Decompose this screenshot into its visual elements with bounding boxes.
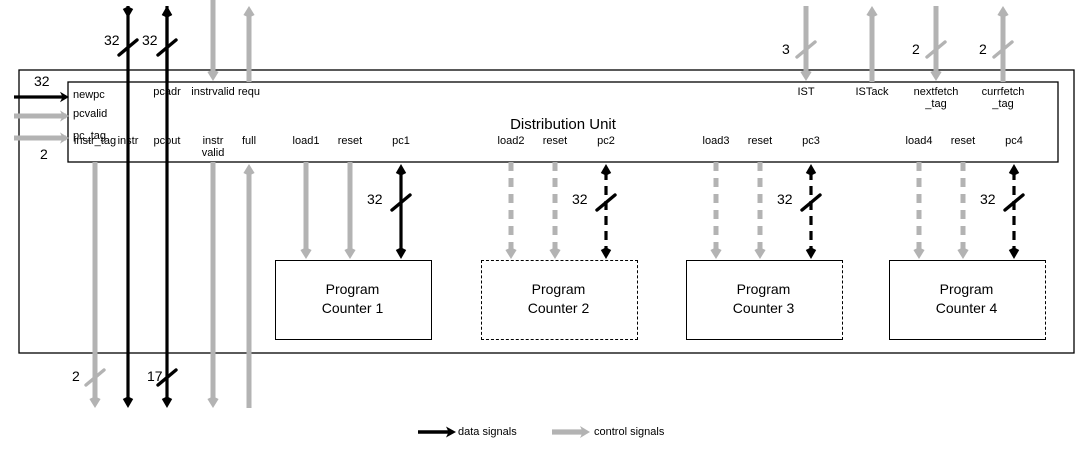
arrowhead-pc3-load3 — [710, 247, 721, 259]
width-label-IST: 3 — [782, 41, 790, 57]
port-label-pc4-pc4: pc4 — [1005, 136, 1023, 148]
arrowhead-pc2-load2 — [505, 247, 516, 259]
width-label-pc3-pc3: 32 — [777, 191, 793, 207]
arrowhead-pc2-pc2-up — [601, 164, 611, 176]
width-label-pcout: 17 — [147, 368, 163, 384]
counter-label-pc4: ProgramCounter 4 — [936, 280, 997, 318]
arrowhead-IST — [800, 69, 811, 81]
arrowhead-pcadr-top — [162, 6, 172, 18]
port-label-pc2-reset: reset — [543, 136, 567, 148]
port-label-ISTack: ISTack — [855, 87, 888, 99]
port-label-requ: requ — [238, 87, 260, 99]
port-label-newpc: newpc — [73, 90, 105, 102]
port-label-instr_tag: instr_tag — [74, 136, 116, 148]
arrowhead-ISTack — [866, 6, 877, 18]
arrowhead-pc3-reset — [754, 247, 765, 259]
arrowhead-pc3-pc3-down — [806, 247, 816, 259]
arrowhead-currfetch_tag — [997, 6, 1008, 18]
arrowhead-instr_tag — [89, 396, 100, 408]
port-label-IST: IST — [797, 87, 814, 99]
width-label-currfetch_tag: 2 — [979, 41, 987, 57]
port-label-pc3-load3: load3 — [703, 136, 730, 148]
width-label-instr_tag: 2 — [72, 368, 80, 384]
port-label-pcout: pcout — [154, 136, 181, 148]
width-label-pc_tag: 2 — [40, 146, 48, 162]
arrowhead-instr-bottom — [123, 396, 133, 408]
counter-label-pc1: ProgramCounter 1 — [322, 280, 383, 318]
width-label-pc2-pc2: 32 — [572, 191, 588, 207]
port-label-instrvalid_bottom: instrvalid — [202, 136, 225, 159]
arrowhead-pc2-pc2-down — [601, 247, 611, 259]
width-label-pc1-pc1: 32 — [367, 191, 383, 207]
port-label-currfetch_tag: currfetch_tag — [982, 87, 1025, 110]
port-label-pc1-load1: load1 — [293, 136, 320, 148]
port-label-pc2-load2: load2 — [498, 136, 525, 148]
port-label-nextfetch_tag: nextfetch_tag — [914, 87, 959, 110]
arrowhead-pc4-pc4-up — [1009, 164, 1019, 176]
arrowhead-instrvalid_bottom — [207, 396, 218, 408]
arrowhead-pc1-pc1-down — [396, 247, 406, 259]
arrowhead-nextfetch_tag — [930, 69, 941, 81]
port-label-full: full — [242, 136, 256, 148]
arrowhead-pc1-load1 — [300, 247, 311, 259]
port-label-instr: instr — [118, 136, 139, 148]
width-label-top-1: 32 — [142, 32, 158, 48]
port-label-pc2-pc2: pc2 — [597, 136, 615, 148]
port-label-pcvalid: pcvalid — [73, 109, 107, 121]
arrowhead-pc1-reset — [344, 247, 355, 259]
arrowhead-pc2-reset — [549, 247, 560, 259]
width-label-pc4-pc4: 32 — [980, 191, 996, 207]
arrowhead-full — [243, 164, 254, 176]
width-label-nextfetch_tag: 2 — [912, 41, 920, 57]
arrowhead-instr-top — [123, 6, 133, 18]
port-label-pc3-reset: reset — [748, 136, 772, 148]
port-label-pc1-reset: reset — [338, 136, 362, 148]
port-label-pc4-reset: reset — [951, 136, 975, 148]
diagram-canvas: newpcpcvalidpc_tag322pcadrinstrvalidrequ… — [0, 0, 1083, 451]
arrowhead-pc3-pc3-up — [806, 164, 816, 176]
port-label-pcadr: pcadr — [153, 87, 181, 99]
counter-label-pc2: ProgramCounter 2 — [528, 280, 589, 318]
arrowhead-pc4-pc4-down — [1009, 247, 1019, 259]
page-title: Distribution Unit — [510, 116, 616, 133]
port-label-instrvalid: instrvalid — [191, 87, 234, 99]
arrowhead-pc4-reset — [957, 247, 968, 259]
arrowhead-pc1-pc1-up — [396, 164, 406, 176]
width-label-top-0: 32 — [104, 32, 120, 48]
arrowhead-requ — [243, 6, 254, 18]
width-label-newpc: 32 — [34, 73, 50, 89]
port-label-pc4-load4: load4 — [906, 136, 933, 148]
counter-label-pc3: ProgramCounter 3 — [733, 280, 794, 318]
port-label-pc1-pc1: pc1 — [392, 136, 410, 148]
port-label-pc3-pc3: pc3 — [802, 136, 820, 148]
arrowhead-pc4-load4 — [913, 247, 924, 259]
arrowhead-pcout-bottom — [162, 396, 172, 408]
legend-control-label: control signals — [594, 426, 664, 438]
legend-data-label: data signals — [458, 426, 517, 438]
